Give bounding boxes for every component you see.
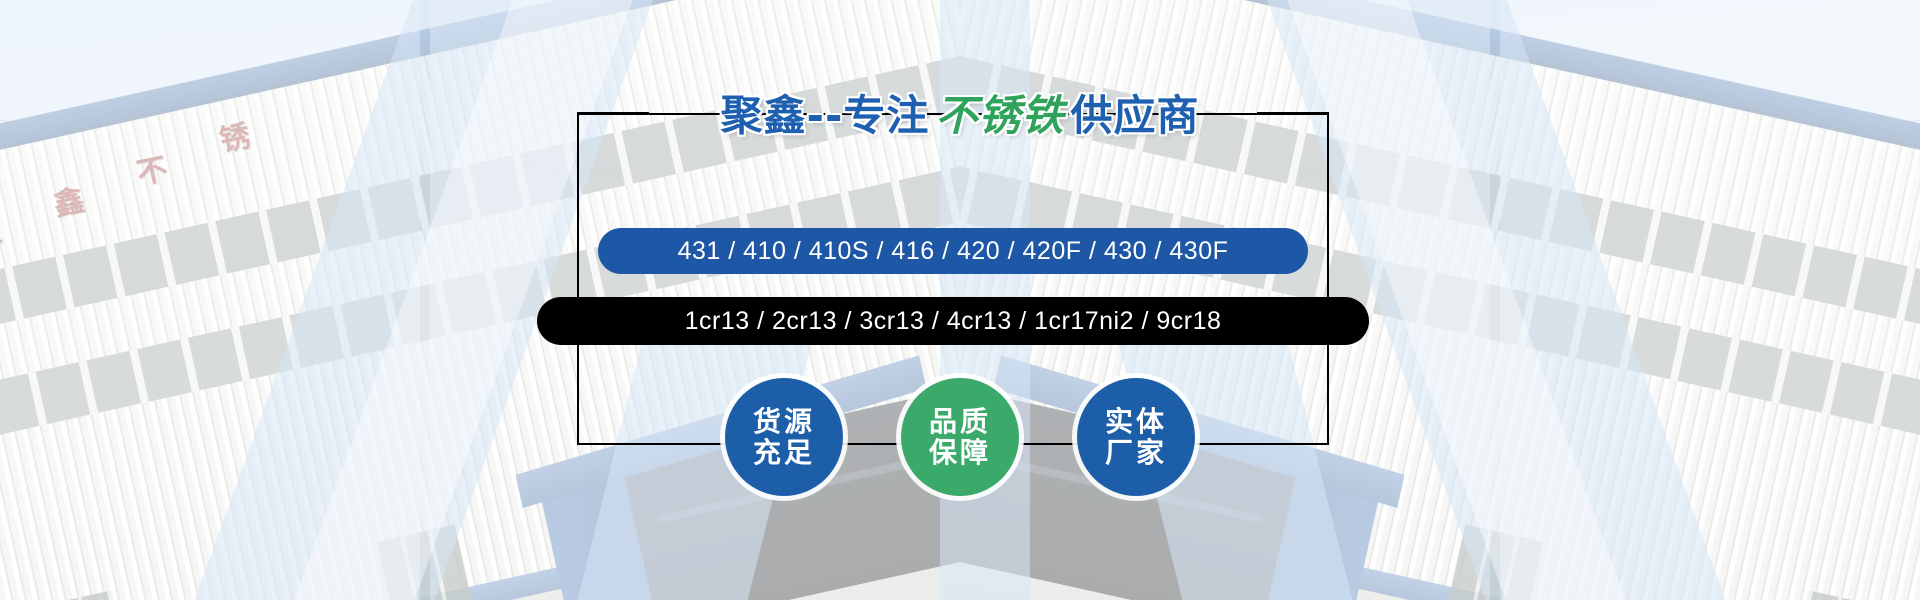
feature-line-2: 厂家 [1105, 437, 1167, 468]
feature-line-1: 品质 [929, 406, 991, 437]
grade-bar-secondary: 1cr13 / 2cr13 / 3cr13 / 4cr13 / 1cr17ni2… [537, 297, 1369, 345]
title-part-blue-1: 聚鑫--专注 [721, 91, 930, 140]
title-part-blue-2: 供应商 [1070, 91, 1199, 140]
promo-banner: 聚 鑫 不 锈 [0, 0, 1920, 600]
facade-char: 不 [132, 144, 177, 220]
feature-line-1: 货源 [753, 406, 815, 437]
grade-bar-primary: 431 / 410 / 410S / 416 / 420 / 420F / 43… [598, 228, 1308, 274]
title-part-green: 不锈铁 [929, 91, 1070, 140]
facade-char: 鑫 [49, 175, 91, 238]
feature-circle-factory: 实体 厂家 [1077, 378, 1195, 496]
facade-char: 聚 [0, 206, 4, 255]
feature-circle-group: 货源 充足 品质 保障 实体 厂家 [0, 378, 1920, 496]
feature-circle-quality: 品质 保障 [901, 378, 1019, 496]
page-title: 聚鑫--专注不锈铁供应商 [0, 82, 1920, 143]
feature-line-2: 充足 [753, 437, 815, 468]
feature-circle-supply: 货源 充足 [725, 378, 843, 496]
feature-line-1: 实体 [1105, 406, 1167, 437]
feature-line-2: 保障 [929, 437, 991, 468]
